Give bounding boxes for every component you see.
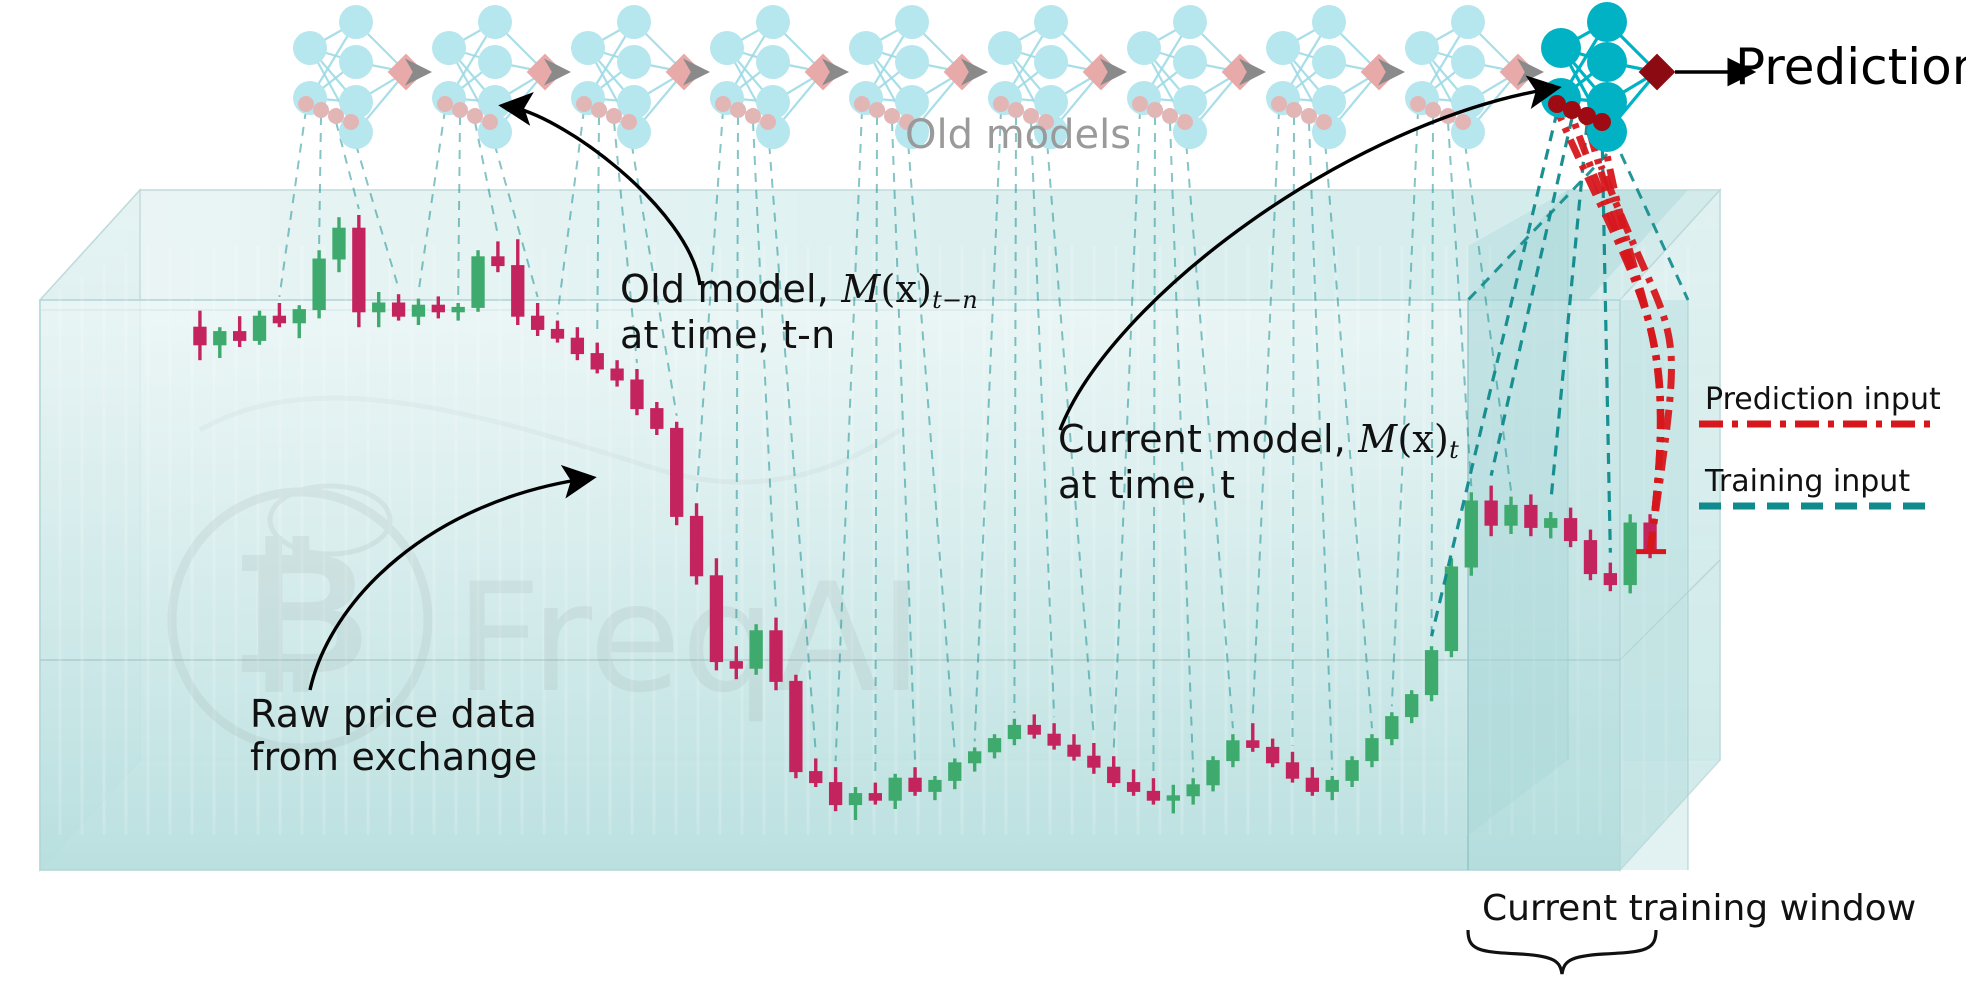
old-model-callout-text-a: Old model, xyxy=(620,267,841,311)
old-models-label: Old models xyxy=(905,112,1131,158)
legend-label-prediction-input: Prediction input xyxy=(1705,382,1941,417)
current-model-callout: Current model, M(x)t at time, t xyxy=(1058,418,1459,506)
current-model-callout-M: M xyxy=(1358,417,1397,461)
current-model-callout-line2: at time, t xyxy=(1058,464,1459,507)
legend-item-training-input: Training input xyxy=(1705,464,1941,526)
raw-price-callout: Raw price data from exchange xyxy=(250,693,538,778)
old-model-callout-M: M xyxy=(841,267,880,311)
old-model-callout: Old model, M(x)t−n at time, t-n xyxy=(620,268,978,356)
legend-swatch-training-input xyxy=(1697,498,1937,514)
diagram-canvas: ₿ FreqAI xyxy=(0,0,1966,981)
old-model-callout-arrow xyxy=(505,106,700,285)
legend-item-prediction-input: Prediction input xyxy=(1705,382,1941,444)
legend-label-training-input: Training input xyxy=(1705,464,1941,499)
training-window-brace xyxy=(1468,930,1656,974)
legend-swatch-prediction-input xyxy=(1697,416,1937,432)
old-model-callout-sub: t−n xyxy=(932,286,978,314)
raw-price-callout-line2: from exchange xyxy=(250,736,538,779)
raw-price-callout-arrow xyxy=(310,478,590,690)
current-model-callout-sub: t xyxy=(1449,436,1459,464)
prediction-label: Prediction xyxy=(1735,38,1966,96)
old-model-callout-paren: (x) xyxy=(880,267,932,311)
current-model-callout-paren: (x) xyxy=(1397,417,1449,461)
raw-price-callout-line1: Raw price data xyxy=(250,693,538,736)
legend: Prediction input Training input xyxy=(1705,382,1941,526)
current-model-callout-arrow xyxy=(1060,88,1555,430)
old-model-callout-line2: at time, t-n xyxy=(620,314,978,357)
current-model-callout-text-a: Current model, xyxy=(1058,417,1358,461)
current-model-callout-line1: Current model, M(x)t xyxy=(1058,418,1459,464)
current-training-window-label: Current training window xyxy=(1482,888,1916,929)
old-model-callout-line1: Old model, M(x)t−n xyxy=(620,268,978,314)
